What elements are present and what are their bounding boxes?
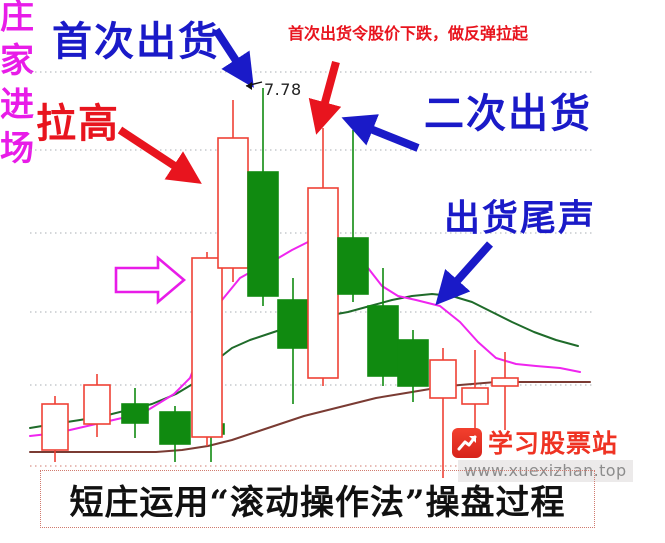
price-pointer-icon: [246, 82, 262, 90]
annotation-distribution-end: 出货尾声: [444, 200, 596, 236]
annotation-pull-up: 拉高: [36, 104, 120, 144]
price-label: 7.78: [264, 80, 302, 99]
caption-box: 短庄运用“滚动操作法”操盘过程: [40, 470, 595, 528]
chart-canvas: 首次出货 拉高 二次出货 出货尾声 首次出货令股价下跌，做反弹拉起 庄家进场 7…: [0, 0, 665, 543]
arrow-group: [120, 30, 490, 293]
arrow-red-note: [320, 62, 336, 119]
banker-enter-arrow-icon: [116, 258, 184, 302]
site-logo: 学习股票站: [452, 428, 618, 458]
site-name: 学习股票站: [488, 431, 618, 456]
arrow-pull-up: [120, 130, 188, 175]
arrow-second-distribution: [356, 123, 418, 148]
annotation-second-distribution: 二次出货: [424, 94, 592, 134]
arrow-distribution-end: [446, 244, 490, 293]
annotation-red-note: 首次出货令股价下跌，做反弹拉起: [288, 26, 528, 42]
trend-arrow-icon: [452, 428, 482, 458]
caption-text: 短庄运用“滚动操作法”操盘过程: [69, 475, 565, 524]
annotation-first-distribution: 首次出货: [52, 22, 220, 62]
arrow-first-distribution: [216, 30, 245, 74]
